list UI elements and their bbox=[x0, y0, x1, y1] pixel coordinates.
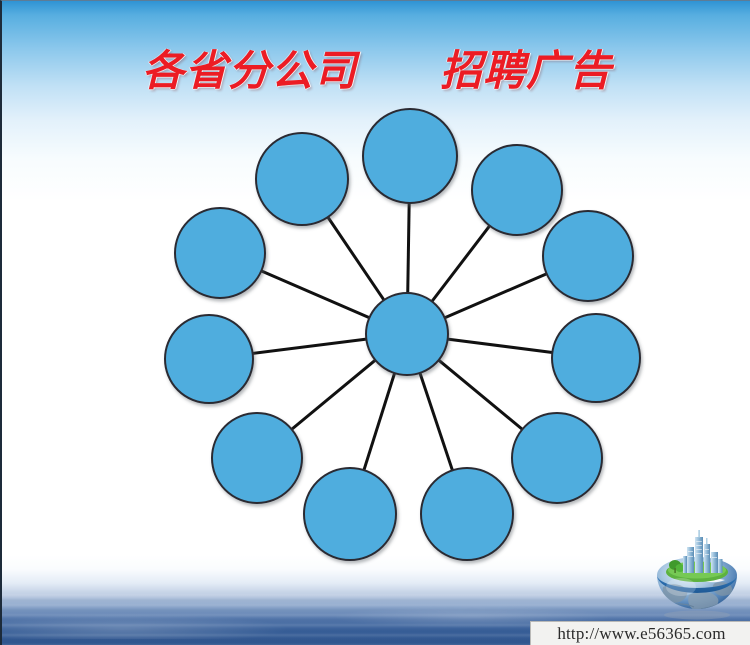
poster-canvas: 各省分公司 招聘广告 bbox=[0, 0, 750, 645]
hub-node[interactable] bbox=[366, 293, 448, 375]
branch-circle-4[interactable] bbox=[552, 314, 640, 402]
watermark-url: http://www.e56365.com bbox=[557, 624, 725, 644]
branch-node-10[interactable] bbox=[175, 208, 265, 298]
city-skyline bbox=[683, 530, 723, 573]
watermark-bar: http://www.e56365.com bbox=[530, 621, 750, 645]
spoke-line-6 bbox=[419, 371, 453, 472]
branch-node-8[interactable] bbox=[212, 413, 302, 503]
branch-circle-3[interactable] bbox=[543, 211, 633, 301]
branch-node-7[interactable] bbox=[304, 468, 396, 560]
spoke-line-8 bbox=[290, 359, 377, 431]
branch-circle-6[interactable] bbox=[421, 468, 513, 560]
spoke-line-1 bbox=[408, 201, 410, 295]
branch-node-9[interactable] bbox=[165, 315, 253, 403]
branch-node-1[interactable] bbox=[363, 109, 457, 203]
branch-node-4[interactable] bbox=[552, 314, 640, 402]
branch-node-6[interactable] bbox=[421, 468, 513, 560]
branch-node-11[interactable] bbox=[256, 133, 348, 225]
branch-circle-11[interactable] bbox=[256, 133, 348, 225]
branch-circle-10[interactable] bbox=[175, 208, 265, 298]
hub-circle[interactable] bbox=[366, 293, 448, 375]
branch-circle-1[interactable] bbox=[363, 109, 457, 203]
branch-circle-9[interactable] bbox=[165, 315, 253, 403]
hub-and-spoke-diagram bbox=[2, 1, 750, 645]
globe-highlight bbox=[666, 578, 696, 596]
branch-node-3[interactable] bbox=[543, 211, 633, 301]
spoke-line-2 bbox=[431, 224, 491, 303]
branch-node-2[interactable] bbox=[472, 145, 562, 235]
spoke-line-3 bbox=[443, 273, 549, 319]
branch-node-5[interactable] bbox=[512, 413, 602, 503]
branch-circle-7[interactable] bbox=[304, 468, 396, 560]
spoke-line-7 bbox=[363, 371, 395, 472]
spoke-line-10 bbox=[260, 270, 372, 318]
branch-circle-8[interactable] bbox=[212, 413, 302, 503]
branch-circle-2[interactable] bbox=[472, 145, 562, 235]
spoke-line-9 bbox=[251, 339, 369, 354]
spoke-line-5 bbox=[437, 359, 524, 431]
spoke-line-11 bbox=[327, 215, 385, 301]
nodes-layer bbox=[165, 109, 640, 560]
diagram-svg bbox=[2, 1, 750, 645]
globe-city-logo bbox=[649, 525, 745, 621]
spoke-line-4 bbox=[446, 339, 555, 353]
logo-shadow bbox=[664, 611, 730, 620]
branch-circle-5[interactable] bbox=[512, 413, 602, 503]
